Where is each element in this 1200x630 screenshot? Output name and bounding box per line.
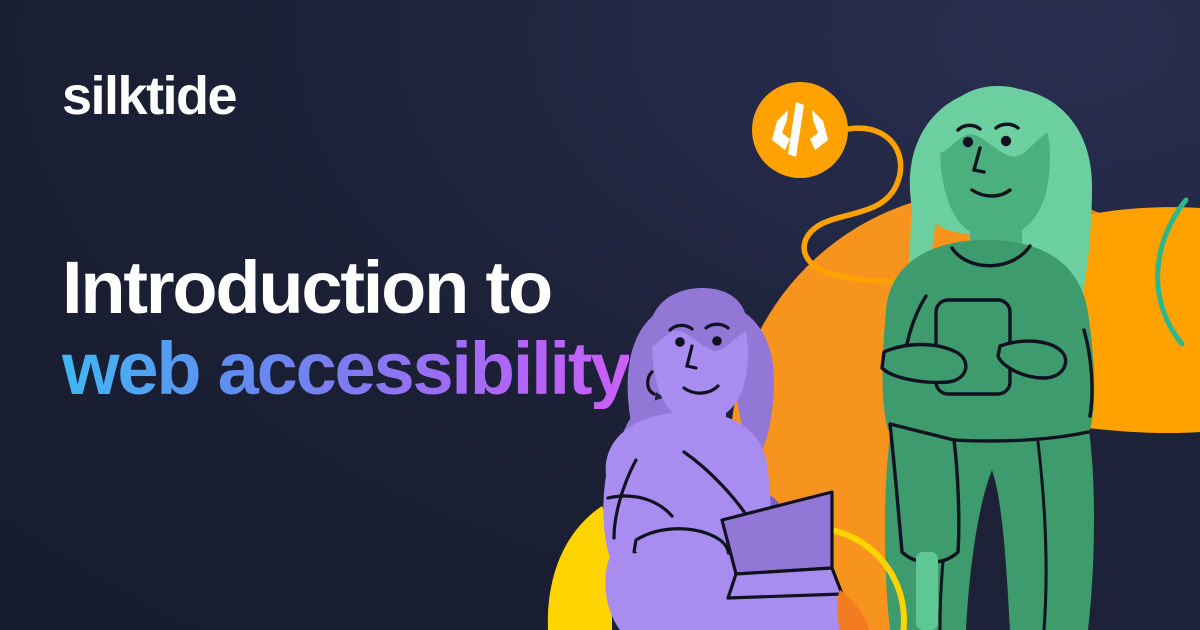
silktide-logo[interactable]: silktide bbox=[62, 70, 236, 122]
headline-line-1: Introduction to bbox=[62, 248, 629, 329]
accessibility-banner: silktide Introduction to web accessibili… bbox=[0, 0, 1200, 630]
headline-line-2: web accessibility bbox=[62, 329, 629, 410]
illustration bbox=[540, 0, 1200, 630]
page-title: Introduction to web accessibility bbox=[62, 248, 629, 409]
prosthetic-leg bbox=[916, 552, 938, 630]
code-badge bbox=[752, 82, 848, 178]
silktide-wordmark: silktide bbox=[62, 69, 236, 123]
